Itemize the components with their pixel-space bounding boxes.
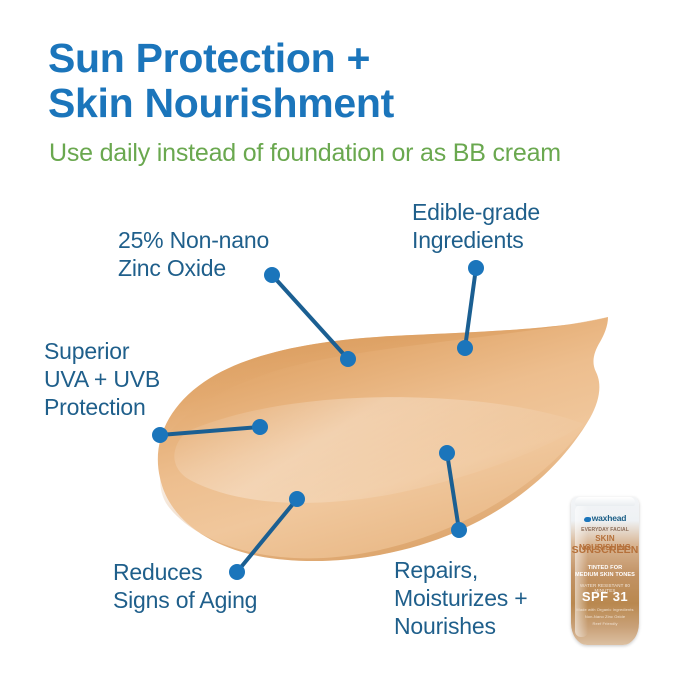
page-title-line-1: Sun Protection + [48, 36, 648, 81]
sunscreen-benefits-infographic: Sun Protection + Skin Nourishment Use da… [0, 0, 679, 679]
connector-dot-edible-target [457, 340, 473, 356]
page-title-line-2: Skin Nourishment [48, 81, 648, 126]
product-fine-print-2: Non-Nano Zinc Oxide [571, 614, 639, 619]
product-line-sunscreen: SUNSCREEN [571, 544, 639, 556]
product-fine-print-3: Reef Friendly [571, 621, 639, 626]
connector-line-zinc [272, 275, 348, 359]
connector-line-edible [465, 268, 476, 348]
product-spf-value: SPF 31 [571, 589, 639, 604]
connector-dot-aging-target [289, 491, 305, 507]
product-brand-logo: waxhead [571, 513, 639, 523]
cream-swatch [158, 317, 608, 561]
product-tube-cap [575, 497, 635, 506]
connector-line-uva [160, 427, 260, 435]
product-line-everyday: EVERYDAY FACIAL [571, 527, 639, 533]
product-tube: waxhead EVERYDAY FACIAL SKIN NOURISHING … [571, 497, 639, 645]
product-line-tinted-1: TINTED FOR [571, 565, 639, 571]
callout-label-zinc: 25% Non-nano Zinc Oxide [118, 226, 338, 282]
callout-label-edible: Edible-grade Ingredients [412, 198, 642, 254]
wave-icon [584, 517, 591, 522]
callout-label-uva: Superior UVA + UVB Protection [44, 337, 224, 421]
product-tube-body: waxhead EVERYDAY FACIAL SKIN NOURISHING … [571, 497, 639, 645]
connector-dot-uva-label [152, 427, 168, 443]
product-line-tinted-2: MEDIUM SKIN TONES [571, 572, 639, 578]
connector-dot-zinc-target [340, 351, 356, 367]
callout-label-aging: Reduces Signs of Aging [113, 558, 343, 614]
product-fine-print-1: Made with Organic Ingredients [571, 607, 639, 612]
page-subtitle: Use daily instead of foundation or as BB… [49, 138, 669, 168]
connector-dot-repairs-label [451, 522, 467, 538]
connector-line-repairs [447, 453, 459, 530]
connector-dot-edible-label [468, 260, 484, 276]
product-brand-name: waxhead [592, 513, 627, 523]
connector-dot-repairs-target [439, 445, 455, 461]
page-title: Sun Protection + Skin Nourishment [48, 36, 648, 126]
connector-dot-uva-target [252, 419, 268, 435]
